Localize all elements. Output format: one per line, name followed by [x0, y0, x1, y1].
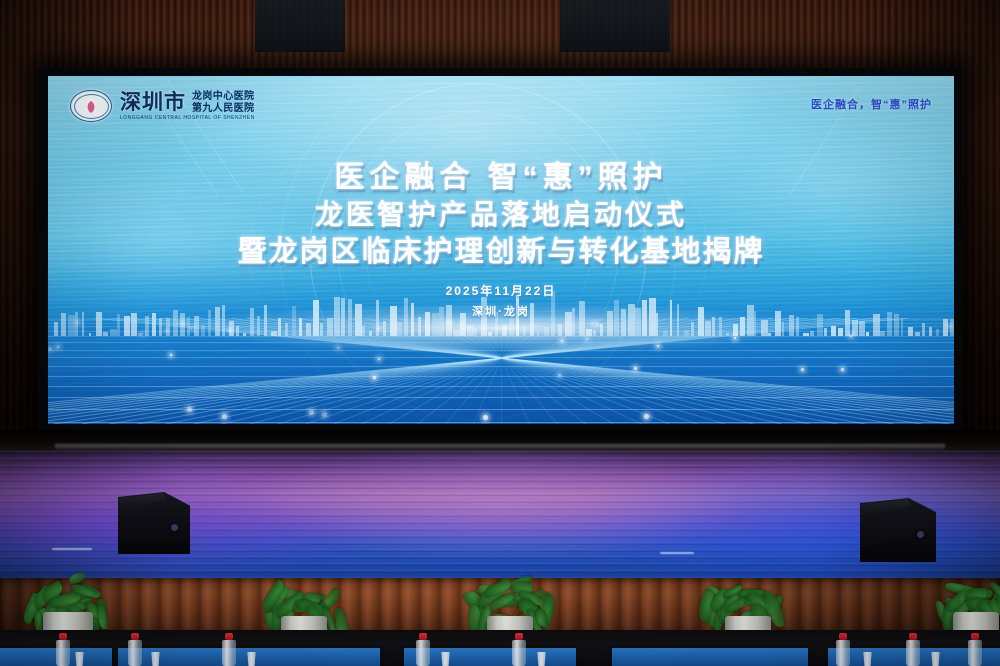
event-date: 2025年11月22日	[48, 282, 954, 299]
hospital-seal-icon	[70, 90, 112, 122]
screen-corner-slogan: 医企融合，智“惠”照护	[811, 96, 932, 112]
stage-monitor-speaker-right	[860, 498, 936, 562]
title-line-1: 医企融合 智“惠”照护	[48, 162, 954, 194]
logo-hospital-name-1: 龙岗中心医院	[192, 91, 254, 102]
title-line-2: 龙医智护产品落地启动仪式	[48, 200, 954, 230]
logo-hospital-name-2: 第九人民医院	[192, 103, 254, 114]
logo-city-name: 深圳市	[120, 92, 186, 113]
screen-event-meta: 2025年11月22日 深圳·龙岗	[48, 282, 954, 319]
stage-front-dark-panel-left	[255, 0, 345, 52]
hospital-logo-text: 深圳市 龙岗中心医院 第九人民医院 LONGGANG CENTRAL HOSPI…	[120, 91, 255, 120]
perspective-grid	[48, 318, 954, 424]
front-table	[0, 630, 1000, 666]
stage-front-dark-panel-right	[560, 0, 670, 52]
screen-title-block: 医企融合 智“惠”照护 龙医智护产品落地启动仪式 暨龙岗区临床护理创新与转化基地…	[48, 162, 954, 319]
hospital-logo: 深圳市 龙岗中心医院 第九人民医院 LONGGANG CENTRAL HOSPI…	[70, 90, 255, 122]
title-line-3: 暨龙岗区临床护理创新与转化基地揭牌	[48, 237, 954, 268]
logo-hospital-names: 龙岗中心医院 第九人民医院	[192, 91, 254, 113]
event-location: 深圳·龙岗	[48, 303, 954, 319]
conference-hall-scene: 深圳市 龙岗中心医院 第九人民医院 LONGGANG CENTRAL HOSPI…	[0, 0, 1000, 666]
led-screen[interactable]: 深圳市 龙岗中心医院 第九人民医院 LONGGANG CENTRAL HOSPI…	[48, 76, 954, 424]
logo-english-name: LONGGANG CENTRAL HOSPITAL OF SHENZHEN	[120, 115, 255, 121]
stage-monitor-speaker-left	[118, 492, 190, 554]
under-screen-shadow-band	[0, 430, 1000, 452]
table-cloth-mid-right	[612, 648, 808, 666]
